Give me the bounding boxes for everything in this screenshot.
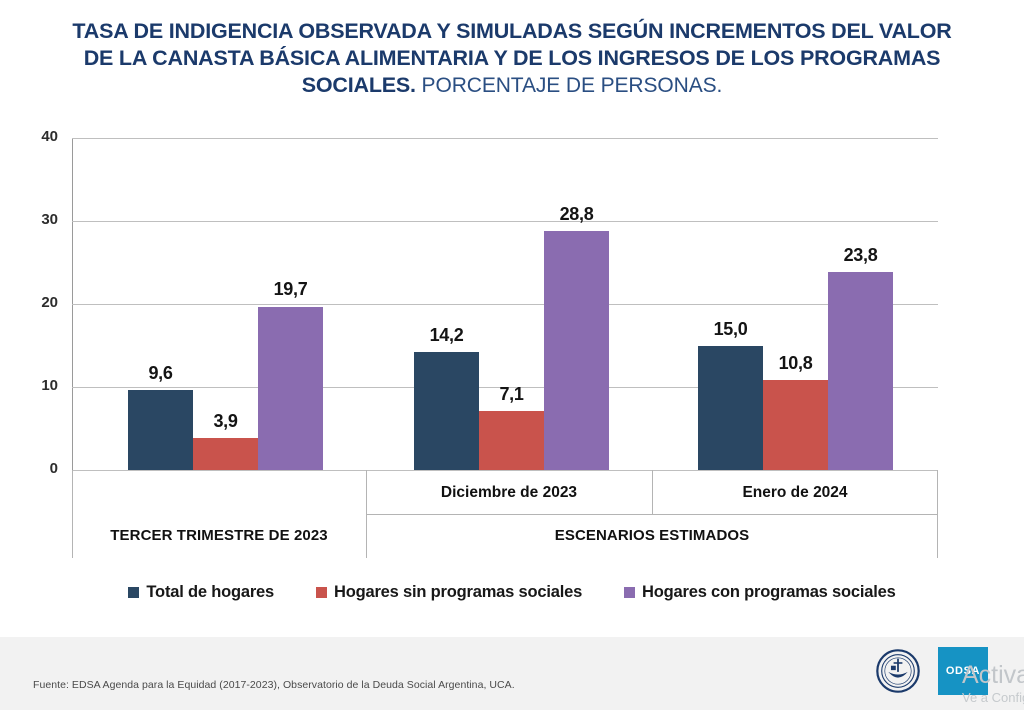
title-line-3-strong: SOCIALES. (302, 73, 416, 97)
bar (828, 272, 893, 470)
chart-legend: Total de hogaresHogares sin programas so… (0, 583, 1024, 602)
gridline (72, 221, 938, 222)
axis-row-divider (366, 514, 937, 515)
bar (414, 352, 479, 470)
bar (763, 380, 828, 470)
logo-group: ODSA (876, 647, 988, 695)
bar-value-label: 15,0 (686, 319, 775, 340)
source-note: Fuente: EDSA Agenda para la Equidad (201… (33, 679, 515, 691)
bar-value-label: 10,8 (751, 353, 840, 374)
legend-label: Total de hogares (146, 583, 274, 602)
bar-chart: 0102030409,63,919,714,27,128,815,010,823… (0, 128, 1024, 558)
bar-value-label: 23,8 (816, 245, 905, 266)
title-line-1: TASA DE INDIGENCIA OBSERVADA Y SIMULADAS… (40, 18, 984, 45)
y-axis-tick-label: 20 (41, 294, 58, 311)
title-line-2: DE LA CANASTA BÁSICA ALIMENTARIA Y DE LO… (40, 45, 984, 72)
odsa-logo-text: ODSA (946, 665, 980, 677)
legend-swatch-icon (128, 587, 139, 598)
legend-item[interactable]: Hogares con programas sociales (624, 583, 896, 602)
bar-value-label: 9,6 (116, 363, 205, 384)
x-axis-label-rows: Diciembre de 2023Enero de 2024TERCER TRI… (72, 470, 938, 558)
title-line-3-light: PORCENTAJE DE PERSONAS. (416, 74, 722, 97)
x-axis-group-label: Diciembre de 2023 (366, 484, 652, 502)
y-axis-tick-label: 0 (50, 460, 58, 477)
y-axis-tick-label: 10 (41, 377, 58, 394)
plot-area: 0102030409,63,919,714,27,128,815,010,823… (72, 138, 938, 470)
legend-label: Hogares sin programas sociales (334, 583, 582, 602)
bar (479, 411, 544, 470)
legend-swatch-icon (624, 587, 635, 598)
legend-label: Hogares con programas sociales (642, 583, 896, 602)
slide-root: TASA DE INDIGENCIA OBSERVADA Y SIMULADAS… (0, 0, 1024, 710)
x-axis-section-label: TERCER TRIMESTRE DE 2023 (72, 527, 366, 544)
bar (258, 307, 323, 471)
bar (193, 438, 258, 470)
odsa-logo: ODSA (938, 647, 988, 695)
legend-item[interactable]: Hogares sin programas sociales (316, 583, 582, 602)
bar-value-label: 28,8 (532, 204, 621, 225)
legend-item[interactable]: Total de hogares (128, 583, 274, 602)
page-title: TASA DE INDIGENCIA OBSERVADA Y SIMULADAS… (40, 18, 984, 100)
bar-value-label: 14,2 (402, 325, 491, 346)
x-axis-group-label: Enero de 2024 (652, 484, 938, 502)
gridline (72, 304, 938, 305)
y-axis-tick-label: 30 (41, 211, 58, 228)
footer-bar: Fuente: EDSA Agenda para la Equidad (201… (0, 637, 1024, 710)
bar-value-label: 19,7 (246, 279, 335, 300)
legend-swatch-icon (316, 587, 327, 598)
uca-seal-icon (876, 649, 920, 693)
bar-value-label: 7,1 (467, 384, 556, 405)
bar (544, 231, 609, 470)
gridline (72, 138, 938, 139)
axis-separator (72, 470, 73, 558)
x-axis-section-label: ESCENARIOS ESTIMADOS (366, 527, 938, 544)
bar-value-label: 3,9 (181, 411, 270, 432)
title-line-3: SOCIALES. PORCENTAJE DE PERSONAS. (40, 72, 984, 99)
y-axis-tick-label: 40 (41, 128, 58, 145)
